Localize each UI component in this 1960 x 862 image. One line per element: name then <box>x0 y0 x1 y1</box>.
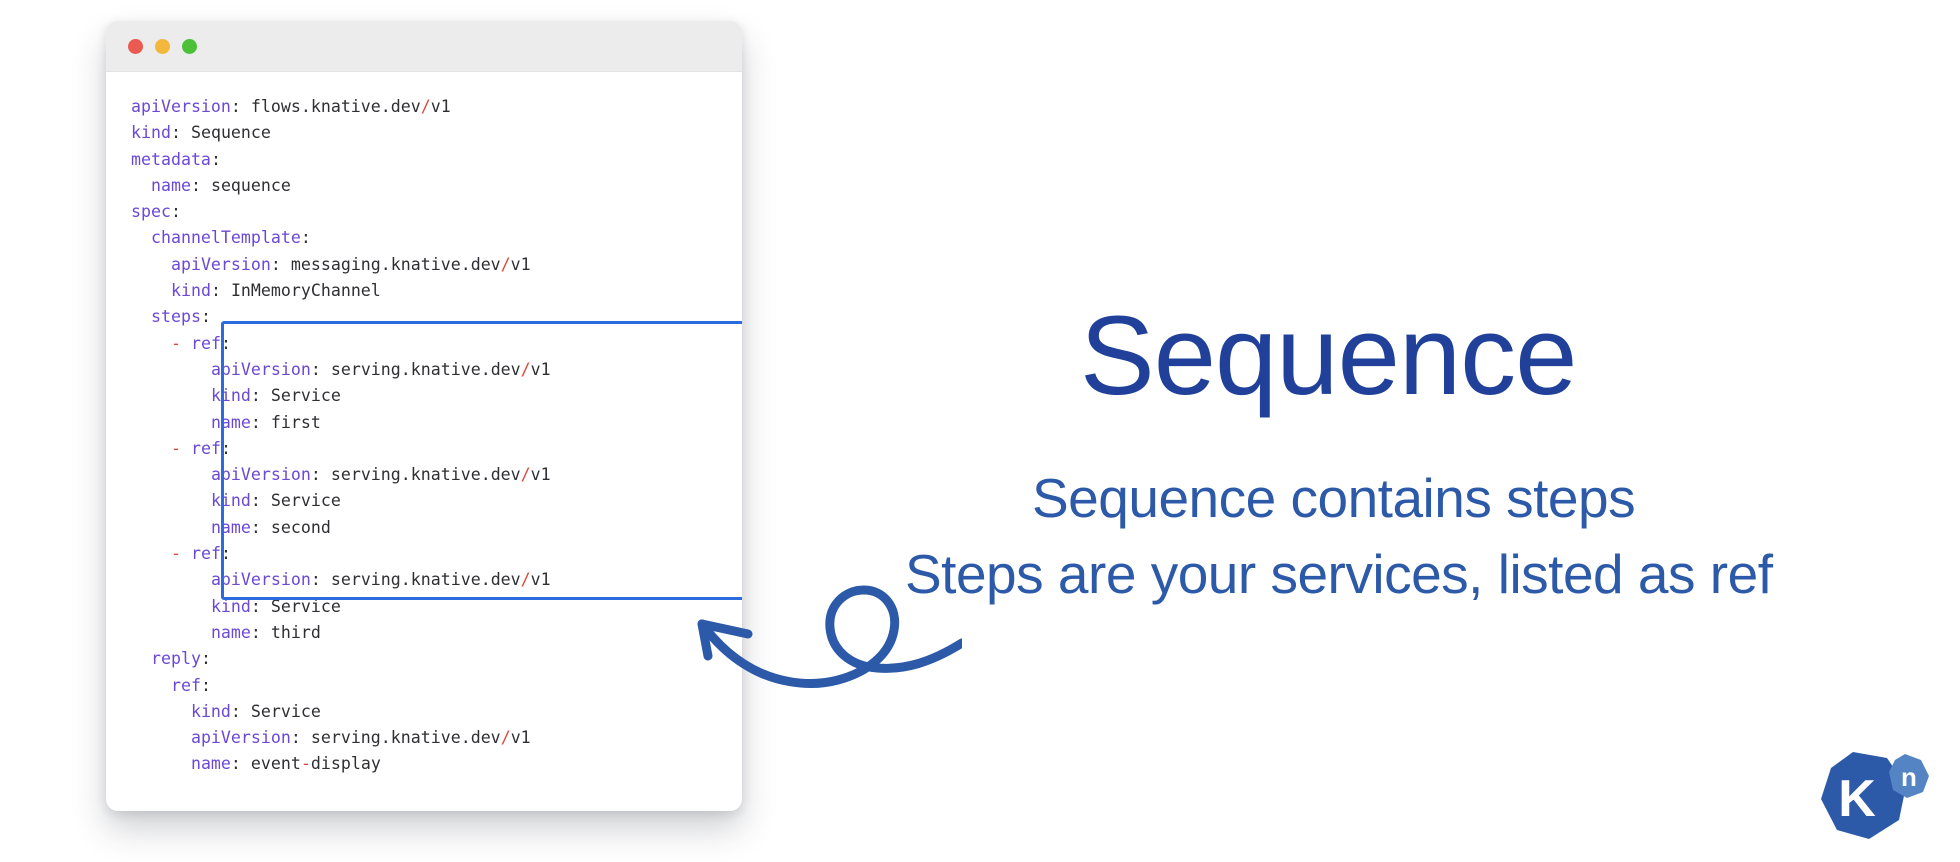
code-line: apiVersion: serving.knative.dev/v1 <box>131 725 742 751</box>
subtitle-line-2: Steps are your services, listed as ref <box>905 542 1772 606</box>
code-line: name: first <box>131 410 742 436</box>
zoom-button[interactable] <box>182 39 197 54</box>
code-line: reply: <box>131 646 742 672</box>
code-line: apiVersion: serving.knative.dev/v1 <box>131 357 742 383</box>
code-line: apiVersion: flows.knative.dev/v1 <box>131 94 742 120</box>
curved-arrow-icon <box>672 568 962 693</box>
code-line: kind: Service <box>131 594 742 620</box>
code-line: name: sequence <box>131 173 742 199</box>
code-line: name: third <box>131 620 742 646</box>
code-window: apiVersion: flows.knative.dev/v1kind: Se… <box>106 21 742 811</box>
code-line: kind: InMemoryChannel <box>131 278 742 304</box>
logo-letter-k: K <box>1838 770 1876 828</box>
code-line: name: event-display <box>131 751 742 777</box>
code-line: kind: Service <box>131 488 742 514</box>
knative-logo-icon: K n <box>1813 744 1933 849</box>
code-line: apiVersion: messaging.knative.dev/v1 <box>131 252 742 278</box>
code-line: ref: <box>131 673 742 699</box>
logo-letter-n: n <box>1901 762 1917 792</box>
code-line: - ref: <box>131 331 742 357</box>
code-line: spec: <box>131 199 742 225</box>
yaml-code-block[interactable]: apiVersion: flows.knative.dev/v1kind: Se… <box>106 94 742 778</box>
code-line: kind: Sequence <box>131 120 742 146</box>
page-title: Sequence <box>1080 300 1576 412</box>
code-line: - ref: <box>131 541 742 567</box>
close-button[interactable] <box>128 39 143 54</box>
code-line: kind: Service <box>131 699 742 725</box>
code-line: kind: Service <box>131 383 742 409</box>
code-body: apiVersion: flows.knative.dev/v1kind: Se… <box>106 72 742 811</box>
minimize-button[interactable] <box>155 39 170 54</box>
code-line: steps: <box>131 304 742 330</box>
code-line: - ref: <box>131 436 742 462</box>
code-line: channelTemplate: <box>131 225 742 251</box>
subtitle-line-1: Sequence contains steps <box>1032 466 1635 530</box>
code-line: apiVersion: serving.knative.dev/v1 <box>131 462 742 488</box>
code-line: apiVersion: serving.knative.dev/v1 <box>131 567 742 593</box>
window-title-bar <box>106 21 742 72</box>
code-line: metadata: <box>131 147 742 173</box>
code-line: name: second <box>131 515 742 541</box>
